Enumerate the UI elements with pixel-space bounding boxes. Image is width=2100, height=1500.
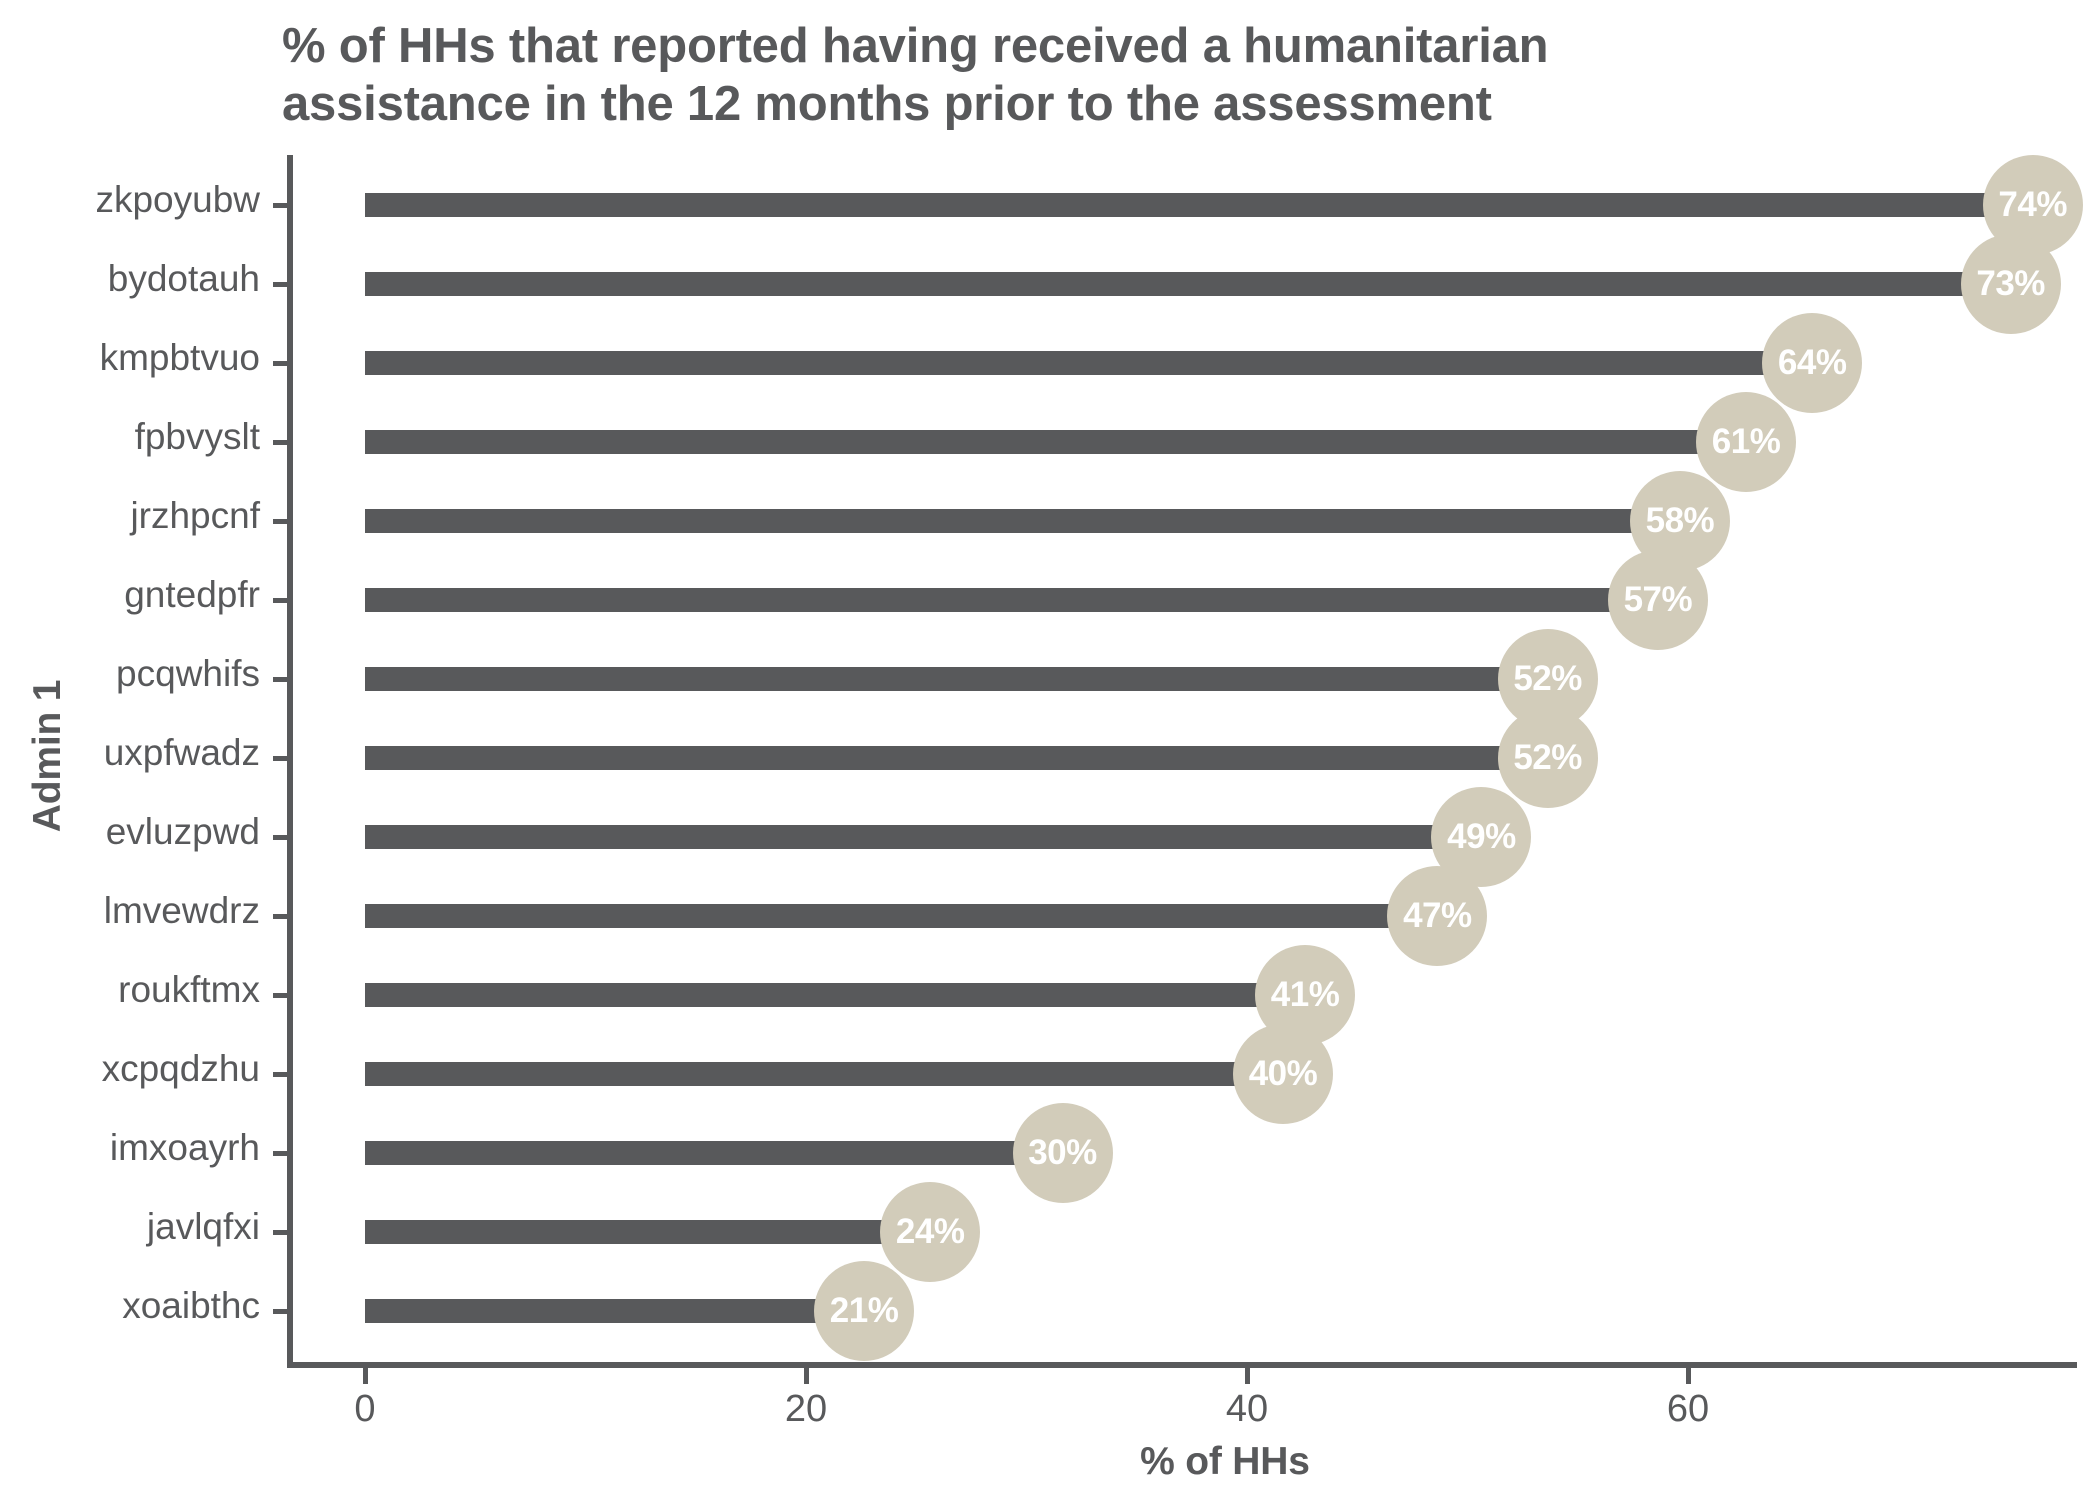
chart-title: % of HHs that reported having received a… — [282, 18, 1832, 134]
bar-uxpfwadz — [365, 746, 1512, 770]
value-bubble: 24% — [880, 1182, 980, 1282]
bar-xcpqdzhu — [365, 1062, 1247, 1086]
bar-javlqfxi — [365, 1220, 894, 1244]
y-tick-mark — [273, 1151, 287, 1156]
x-tick-label: 20 — [785, 1388, 827, 1431]
value-bubble-label: 74% — [1998, 185, 2067, 225]
bar-zkpoyubw — [365, 193, 1997, 217]
y-tick-mark — [273, 756, 287, 761]
value-bubble: 47% — [1387, 866, 1487, 966]
x-axis-title: % of HHs — [0, 1440, 2100, 1484]
bar-kmpbtvuo — [365, 351, 1776, 375]
y-tick-label-gntedpfr: gntedpfr — [0, 574, 260, 616]
bar-jrzhpcnf — [365, 509, 1644, 533]
x-tick-mark — [363, 1367, 368, 1384]
bar-evluzpwd — [365, 825, 1445, 849]
value-bubble: 64% — [1762, 313, 1862, 413]
bar-imxoayrh — [365, 1141, 1027, 1165]
value-bubble-label: 73% — [1976, 264, 2045, 304]
y-tick-label-imxoayrh: imxoayrh — [0, 1127, 260, 1169]
value-bubble: 57% — [1608, 550, 1708, 650]
value-bubble-label: 21% — [830, 1291, 899, 1331]
x-tick-label: 0 — [354, 1388, 375, 1431]
value-bubble: 30% — [1013, 1103, 1113, 1203]
y-tick-label-evluzpwd: evluzpwd — [0, 811, 260, 853]
y-tick-mark — [273, 835, 287, 840]
y-tick-label-bydotauh: bydotauh — [0, 258, 260, 300]
value-bubble: 40% — [1233, 1024, 1333, 1124]
x-tick-label: 40 — [1226, 1388, 1268, 1431]
value-bubble: 61% — [1696, 392, 1796, 492]
value-bubble-label: 24% — [896, 1212, 965, 1252]
y-tick-mark — [273, 519, 287, 524]
y-tick-label-fpbvyslt: fpbvyslt — [0, 416, 260, 458]
value-bubble-label: 64% — [1778, 343, 1847, 383]
y-tick-mark — [273, 1230, 287, 1235]
value-bubble-label: 52% — [1513, 738, 1582, 778]
bar-roukftmx — [365, 983, 1269, 1007]
y-tick-mark — [273, 361, 287, 366]
y-tick-mark — [273, 1309, 287, 1314]
y-tick-mark — [273, 993, 287, 998]
bar-fpbvyslt — [365, 430, 1710, 454]
x-axis-title-text: % of HHs — [1140, 1440, 1310, 1484]
value-bubble-label: 58% — [1646, 501, 1715, 541]
y-tick-mark — [273, 1072, 287, 1077]
value-bubble-label: 47% — [1403, 896, 1472, 936]
value-bubble-label: 52% — [1513, 659, 1582, 699]
y-tick-label-xoaibthc: xoaibthc — [0, 1285, 260, 1327]
y-tick-mark — [273, 914, 287, 919]
y-tick-label-jrzhpcnf: jrzhpcnf — [0, 495, 260, 537]
bar-bydotauh — [365, 272, 1975, 296]
bar-lmvewdrz — [365, 904, 1401, 928]
bar-gntedpfr — [365, 588, 1622, 612]
value-bubble-label: 61% — [1712, 422, 1781, 462]
y-tick-mark — [273, 440, 287, 445]
y-tick-label-uxpfwadz: uxpfwadz — [0, 732, 260, 774]
value-bubble-label: 30% — [1028, 1133, 1097, 1173]
y-tick-mark — [273, 203, 287, 208]
x-tick-mark — [804, 1367, 809, 1384]
value-bubble: 73% — [1961, 234, 2061, 334]
value-bubble: 52% — [1498, 708, 1598, 808]
x-axis-line — [287, 1362, 2077, 1368]
y-tick-mark — [273, 598, 287, 603]
x-tick-label: 60 — [1667, 1388, 1709, 1431]
x-tick-mark — [1686, 1367, 1691, 1384]
y-tick-label-roukftmx: roukftmx — [0, 969, 260, 1011]
y-tick-label-lmvewdrz: lmvewdrz — [0, 890, 260, 932]
y-tick-mark — [273, 282, 287, 287]
value-bubble: 21% — [814, 1261, 914, 1361]
value-bubble-label: 49% — [1447, 817, 1516, 857]
x-tick-mark — [1245, 1367, 1250, 1384]
y-tick-label-xcpqdzhu: xcpqdzhu — [0, 1048, 260, 1090]
bar-xoaibthc — [365, 1299, 828, 1323]
y-tick-label-zkpoyubw: zkpoyubw — [0, 179, 260, 221]
bar-pcqwhifs — [365, 667, 1512, 691]
value-bubble-label: 41% — [1271, 975, 1340, 1015]
y-tick-label-pcqwhifs: pcqwhifs — [0, 653, 260, 695]
lollipop-chart: % of HHs that reported having received a… — [0, 0, 2100, 1500]
y-tick-mark — [273, 677, 287, 682]
y-tick-label-kmpbtvuo: kmpbtvuo — [0, 337, 260, 379]
y-tick-label-javlqfxi: javlqfxi — [0, 1206, 260, 1248]
value-bubble-label: 57% — [1624, 580, 1693, 620]
value-bubble-label: 40% — [1249, 1054, 1318, 1094]
